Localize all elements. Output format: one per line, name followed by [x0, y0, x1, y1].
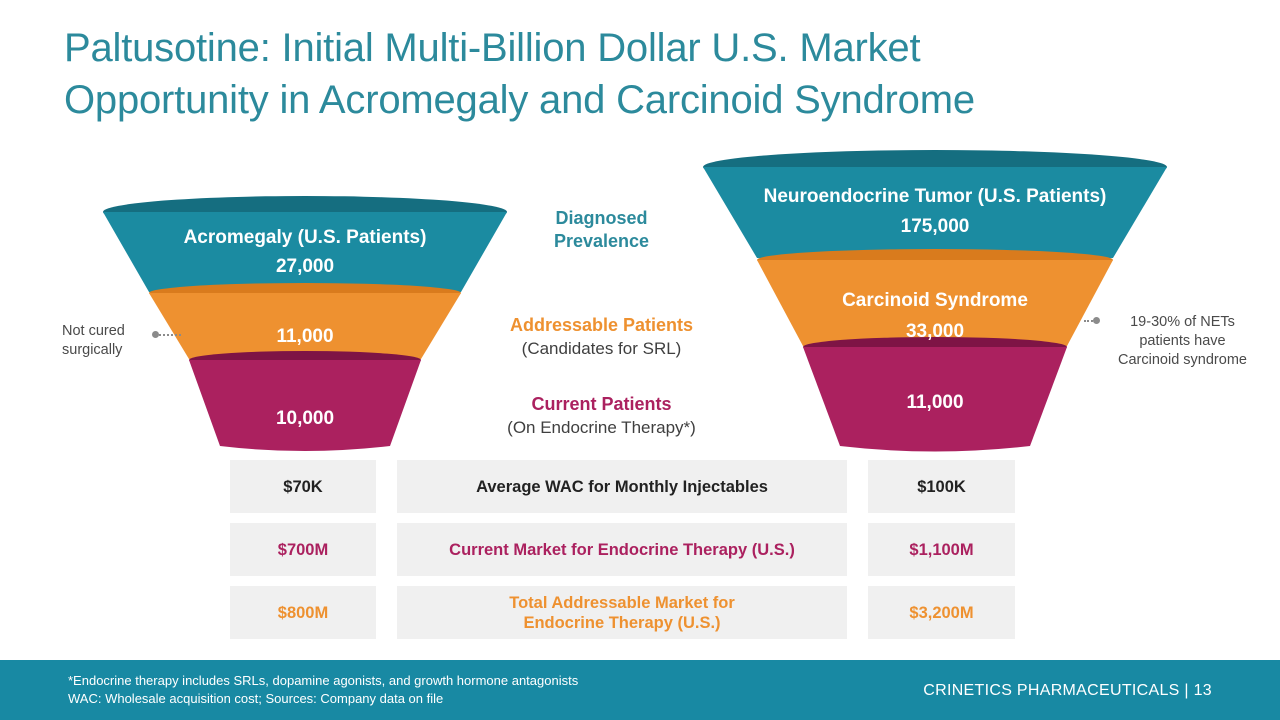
- callout-not-cured-surgically: Not cured surgically: [62, 322, 152, 360]
- dotted-line-icon: [159, 334, 181, 336]
- connector-line: [1084, 317, 1100, 324]
- funnel-segment-magenta: [803, 347, 1067, 452]
- legend-heading: Current Patients: [460, 393, 743, 416]
- connector-dot-icon: [152, 331, 159, 338]
- slide: Paltusotine: Initial Multi-Billion Dolla…: [0, 0, 1280, 720]
- legend-heading: Addressable Patients: [460, 314, 743, 337]
- table-cell-right: $3,200M: [868, 586, 1015, 639]
- connector-dot-icon: [1093, 317, 1100, 324]
- funnel-segment-magenta: [189, 360, 421, 451]
- footnotes: *Endocrine therapy includes SRLs, dopami…: [68, 672, 578, 708]
- table-cell-left: $70K: [230, 460, 376, 513]
- dotted-line-icon: [1084, 320, 1093, 322]
- table-row: $800M Total Addressable Market for Endoc…: [230, 586, 1015, 639]
- callout-text: 19-30% of NETs patients have Carcinoid s…: [1088, 313, 1263, 370]
- market-table: $70K Average WAC for Monthly Injectables…: [230, 460, 1015, 649]
- table-cell-label: Current Market for Endocrine Therapy (U.…: [397, 523, 847, 576]
- table-cell-left: $800M: [230, 586, 376, 639]
- legend-diagnosed-prevalence: Diagnosed Prevalence: [460, 207, 743, 253]
- table-cell-right: $1,100M: [868, 523, 1015, 576]
- slide-footer: *Endocrine therapy includes SRLs, dopami…: [0, 660, 1280, 720]
- legend-subtext: (Candidates for SRL): [460, 337, 743, 360]
- page-title: Paltusotine: Initial Multi-Billion Dolla…: [64, 22, 1274, 126]
- table-cell-label: Average WAC for Monthly Injectables: [397, 460, 847, 513]
- acromegaly-funnel: Acromegaly (U.S. Patients) 27,000 11,000…: [100, 196, 510, 461]
- connector-line: [152, 331, 181, 338]
- legend-current-patients: Current Patients (On Endocrine Therapy*): [460, 393, 743, 439]
- table-row: $700M Current Market for Endocrine Thera…: [230, 523, 1015, 576]
- legend-subtext: (On Endocrine Therapy*): [460, 416, 743, 439]
- legend-addressable-patients: Addressable Patients (Candidates for SRL…: [460, 314, 743, 360]
- callout-nets-percentage: 19-30% of NETs patients have Carcinoid s…: [1088, 313, 1263, 370]
- table-cell-right: $100K: [868, 460, 1015, 513]
- table-row: $70K Average WAC for Monthly Injectables…: [230, 460, 1015, 513]
- company-branding: CRINETICS PHARMACEUTICALS | 13: [923, 682, 1212, 700]
- table-cell-label: Total Addressable Market for Endocrine T…: [397, 586, 847, 639]
- table-cell-left: $700M: [230, 523, 376, 576]
- callout-text: Not cured surgically: [62, 323, 125, 358]
- neuroendocrine-funnel: Neuroendocrine Tumor (U.S. Patients) 175…: [700, 150, 1170, 460]
- legend-heading: Diagnosed Prevalence: [460, 207, 743, 253]
